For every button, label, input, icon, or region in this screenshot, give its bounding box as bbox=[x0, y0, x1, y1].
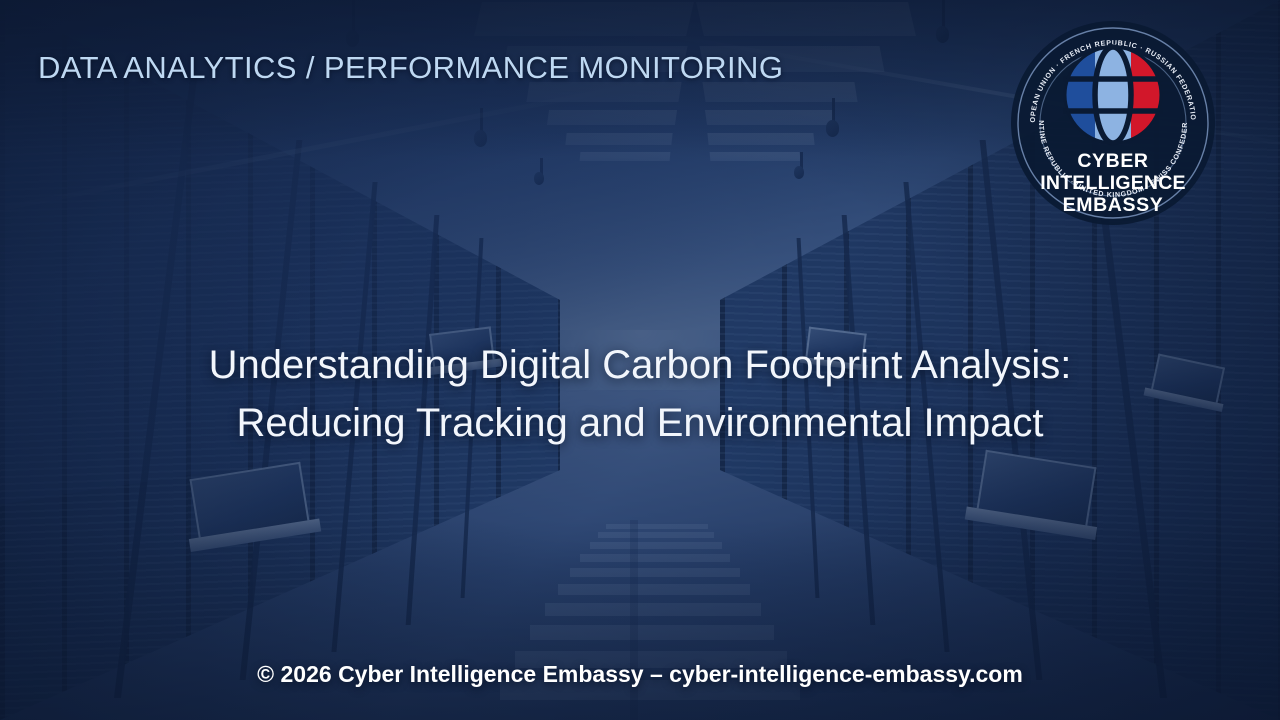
category-kicker: DATA ANALYTICS / PERFORMANCE MONITORING bbox=[38, 50, 783, 86]
cover-slide: DATA ANALYTICS / PERFORMANCE MONITORING … bbox=[0, 0, 1280, 720]
page-title-line-1: Understanding Digital Carbon Footprint A… bbox=[120, 336, 1160, 394]
footer-copyright: © 2026 Cyber Intelligence Embassy – cybe… bbox=[0, 661, 1280, 688]
logo-word-intelligence: INTELLIGENCE bbox=[1040, 172, 1185, 194]
page-title-line-2: Reducing Tracking and Environmental Impa… bbox=[120, 394, 1160, 452]
logo-word-embassy: EMBASSY bbox=[1063, 194, 1164, 216]
cyber-intelligence-embassy-logo[interactable]: UNITED STATES OF AMERICA · EUROPEAN UNIO… bbox=[1009, 19, 1217, 227]
logo-word-cyber: CYBER bbox=[1077, 150, 1148, 172]
page-title: Understanding Digital Carbon Footprint A… bbox=[0, 336, 1280, 453]
